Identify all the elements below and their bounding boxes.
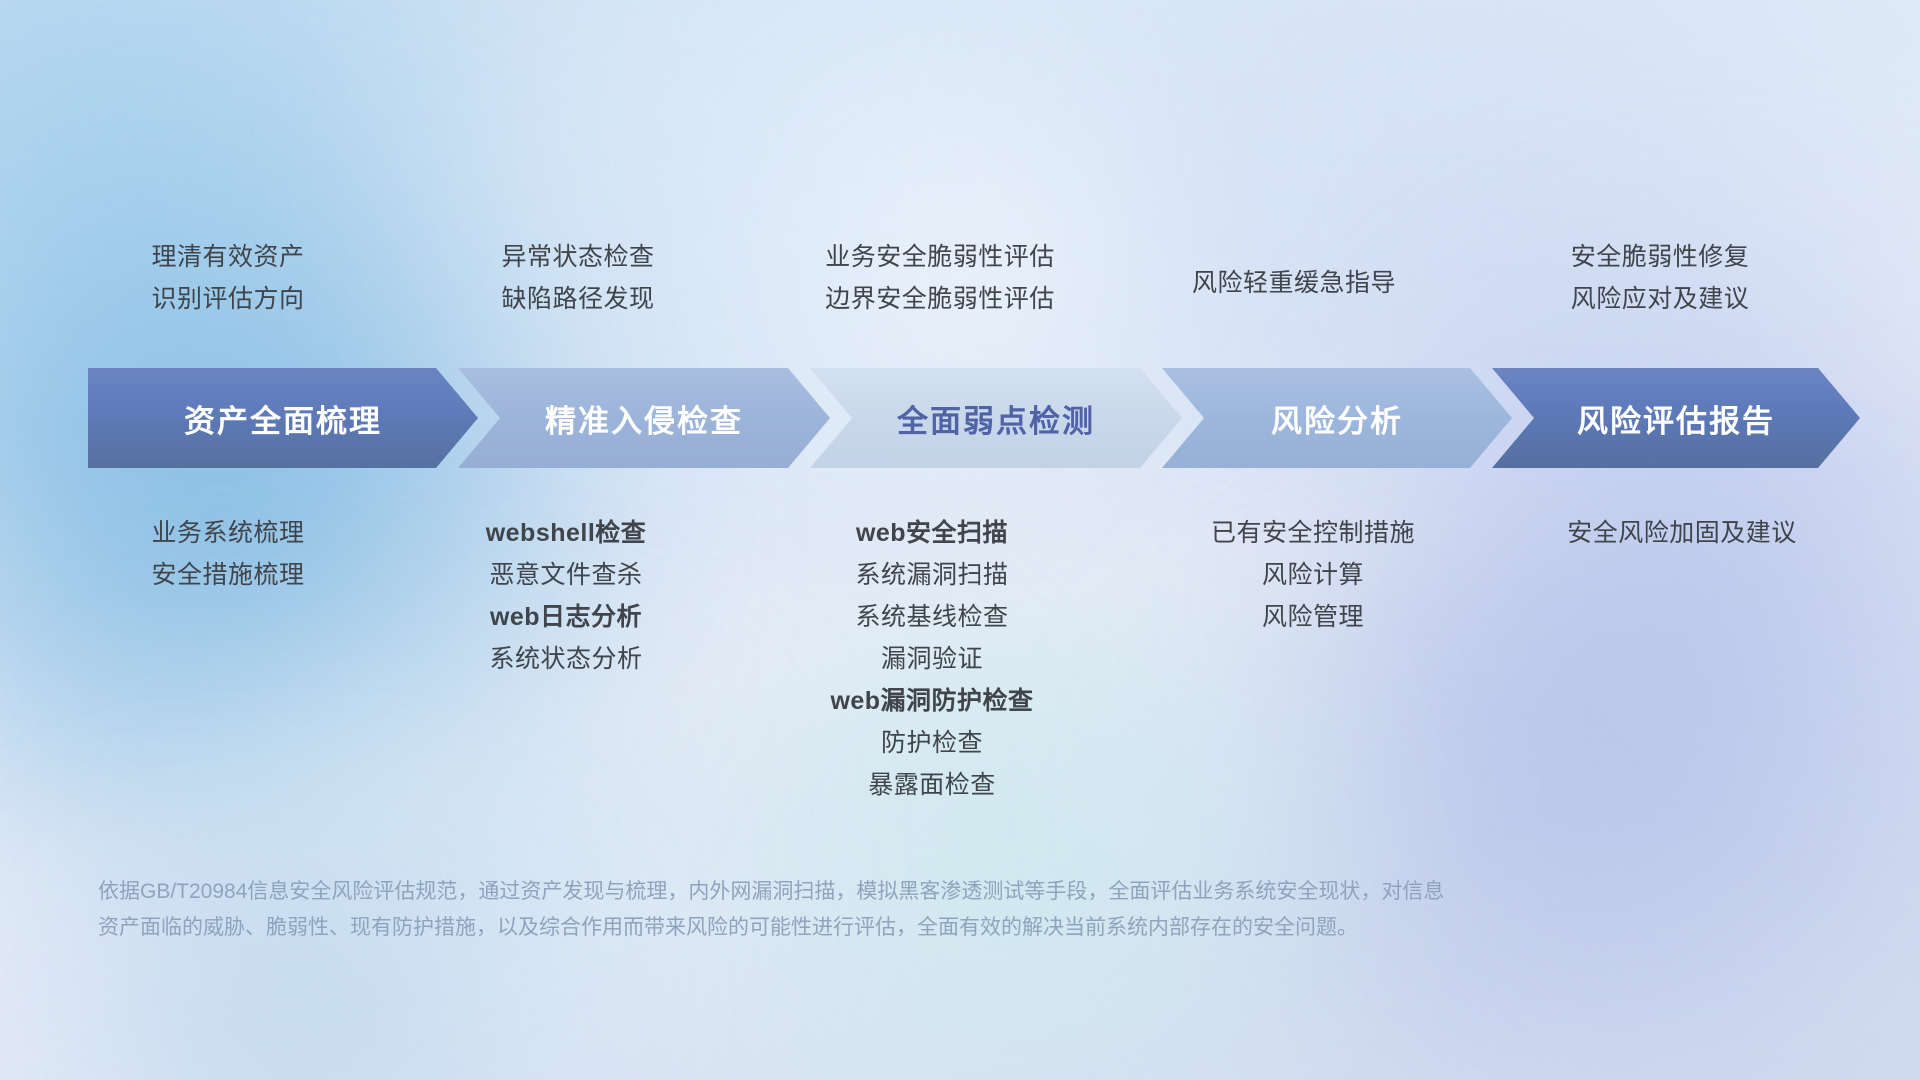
stage-below-label: 系统状态分析 <box>486 638 647 680</box>
stage-above-labels-5: 安全脆弱性修复 风险应对及建议 <box>1571 236 1750 320</box>
stage-banner-risk-report[interactable]: 风险评估报告 <box>1492 368 1860 468</box>
stage-below-label: 风险管理 <box>1211 596 1415 638</box>
stage-banner-weakness-detection[interactable]: 全面弱点检测 <box>810 368 1182 468</box>
stage-below-labels-1: 业务系统梳理 安全措施梳理 <box>151 512 304 596</box>
stage-above-label: 边界安全脆弱性评估 <box>825 278 1055 320</box>
stage-below-label: 风险计算 <box>1211 554 1415 596</box>
stage-banner-label: 资产全面梳理 <box>184 396 382 441</box>
stage-above-label: 异常状态检查 <box>501 236 654 278</box>
stage-below-label: 防护检查 <box>830 722 1033 764</box>
stage-below-label: 暴露面检查 <box>830 764 1033 806</box>
stage-above-label: 业务安全脆弱性评估 <box>825 236 1055 278</box>
footer-line: 资产面临的威胁、脆弱性、现有防护措施，以及综合作用而带来风险的可能性进行评估，全… <box>98 910 1628 946</box>
stage-banner-label: 精准入侵检查 <box>545 396 743 441</box>
diagram-content: 理清有效资产 识别评估方向 异常状态检查 缺陷路径发现 业务安全脆弱性评估 边界… <box>0 0 1920 1080</box>
stage-banner-asset-inventory[interactable]: 资产全面梳理 <box>88 368 478 468</box>
stage-below-labels-3: web安全扫描 系统漏洞扫描 系统基线检查 漏洞验证 web漏洞防护检查 防护检… <box>830 512 1033 806</box>
stage-below-labels-5: 安全风险加固及建议 <box>1567 512 1797 554</box>
stage-above-labels-2: 异常状态检查 缺陷路径发现 <box>501 236 654 320</box>
stage-above-label: 风险轻重缓急指导 <box>1192 262 1396 304</box>
stage-below-labels-4: 已有安全控制措施 风险计算 风险管理 <box>1211 512 1415 638</box>
stage-above-label: 识别评估方向 <box>151 278 304 320</box>
stage-above-label: 缺陷路径发现 <box>501 278 654 320</box>
stage-banner-label: 风险分析 <box>1271 396 1403 441</box>
stage-above-label: 理清有效资产 <box>151 236 304 278</box>
stage-above-labels-1: 理清有效资产 识别评估方向 <box>151 236 304 320</box>
stage-below-label: 业务系统梳理 <box>151 512 304 554</box>
stage-below-label: web日志分析 <box>486 596 647 638</box>
stage-below-label: 系统基线检查 <box>830 596 1033 638</box>
footer-description: 依据GB/T20984信息安全风险评估规范，通过资产发现与梳理，内外网漏洞扫描，… <box>98 874 1628 946</box>
stage-below-label: 恶意文件查杀 <box>486 554 647 596</box>
stage-below-label: webshell检查 <box>486 512 647 554</box>
stage-below-label: 安全风险加固及建议 <box>1567 512 1797 554</box>
stage-below-label: 漏洞验证 <box>830 638 1033 680</box>
stage-above-label: 安全脆弱性修复 <box>1571 236 1750 278</box>
stage-banner-intrusion-check[interactable]: 精准入侵检查 <box>458 368 830 468</box>
stage-above-labels-4: 风险轻重缓急指导 <box>1192 262 1396 304</box>
footer-line: 依据GB/T20984信息安全风险评估规范，通过资产发现与梳理，内外网漏洞扫描，… <box>98 874 1628 910</box>
stage-above-labels-3: 业务安全脆弱性评估 边界安全脆弱性评估 <box>825 236 1055 320</box>
stage-above-label: 风险应对及建议 <box>1571 278 1750 320</box>
stage-banner-risk-analysis[interactable]: 风险分析 <box>1162 368 1512 468</box>
stage-banner-label: 全面弱点检测 <box>897 396 1095 441</box>
process-arrow-banner: 资产全面梳理 精准入侵检查 全面弱点检测 风险分析 风险评估报告 <box>88 368 1840 468</box>
stage-below-labels-2: webshell检查 恶意文件查杀 web日志分析 系统状态分析 <box>486 512 647 680</box>
stage-below-label: 系统漏洞扫描 <box>830 554 1033 596</box>
stage-below-label: web漏洞防护检查 <box>830 680 1033 722</box>
stage-below-label: 已有安全控制措施 <box>1211 512 1415 554</box>
stage-banner-label: 风险评估报告 <box>1577 396 1775 441</box>
stage-below-label: web安全扫描 <box>830 512 1033 554</box>
stage-below-label: 安全措施梳理 <box>151 554 304 596</box>
